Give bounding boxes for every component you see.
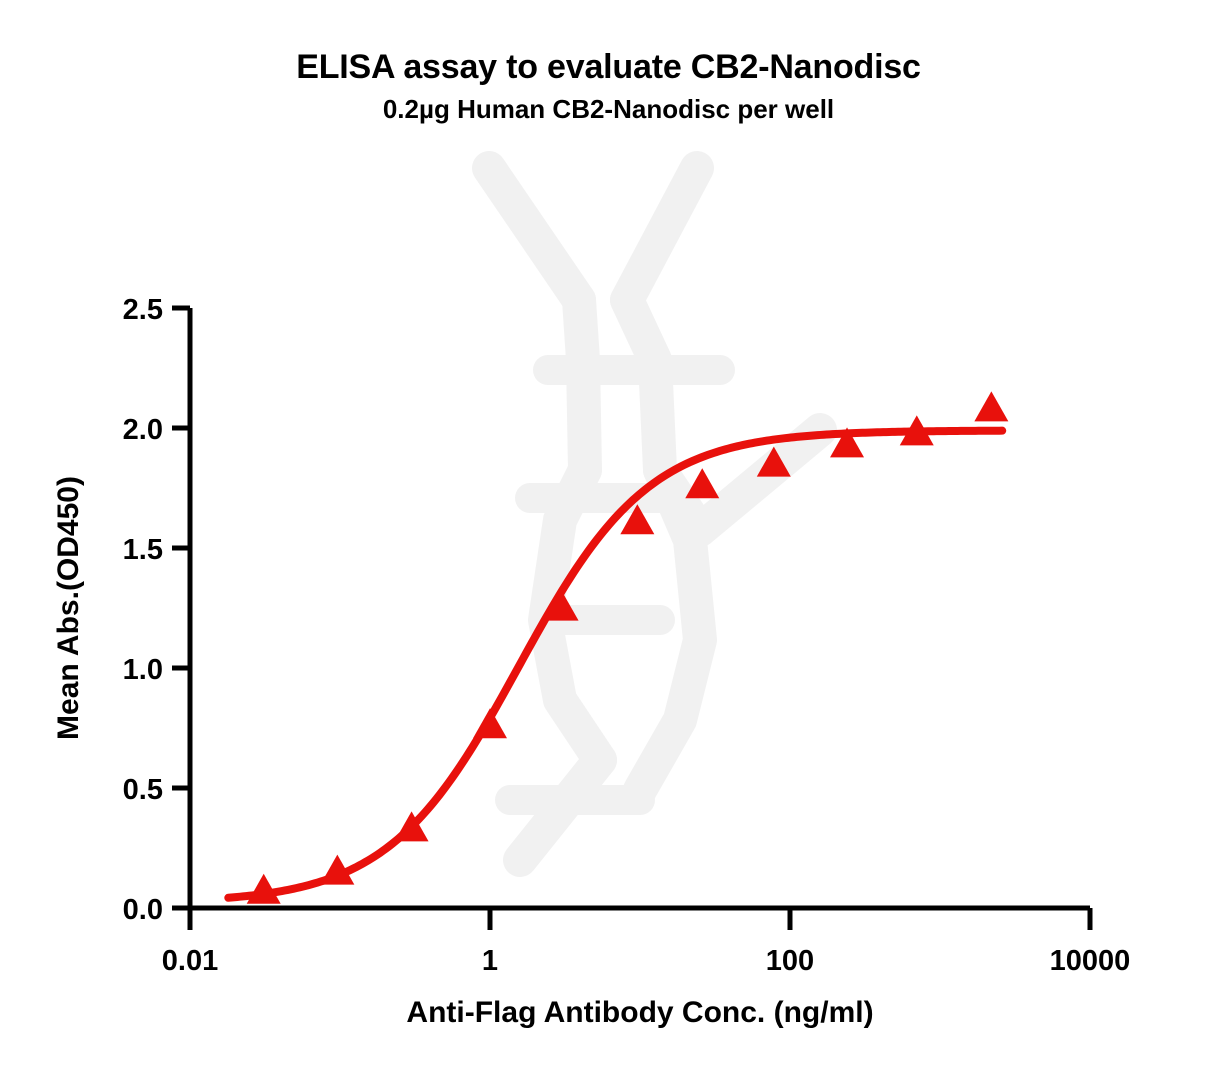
y-tick-label: 2.0: [123, 414, 163, 446]
x-axis-title: Anti-Flag Antibody Conc. (ng/ml): [406, 996, 873, 1029]
y-tick-label: 2.5: [123, 294, 163, 326]
y-tick-label: 1.5: [123, 534, 163, 566]
x-tick-label: 1: [482, 945, 498, 977]
antibody-logo-watermark: [489, 168, 820, 860]
chart-canvas: 2.5 2.0 1.5 1.0 0.5 0.0 0.01 1 100 10000…: [0, 0, 1217, 1075]
data-point-marker: [685, 468, 719, 498]
x-tick-label: 0.01: [162, 945, 218, 977]
y-tick-label: 0.0: [123, 894, 163, 926]
y-tick-label: 1.0: [123, 654, 163, 686]
data-point-marker: [473, 708, 507, 738]
y-tick-label: 0.5: [123, 774, 163, 806]
y-axis-title: Mean Abs.(OD450): [52, 476, 85, 740]
data-point-marker: [974, 391, 1008, 421]
data-point-group: [247, 391, 1009, 903]
elisa-assay-figure: ELISA assay to evaluate CB2-Nanodisc 0.2…: [0, 0, 1217, 1075]
x-tick-label: 100: [766, 945, 814, 977]
x-tick-label: 10000: [1050, 945, 1131, 977]
